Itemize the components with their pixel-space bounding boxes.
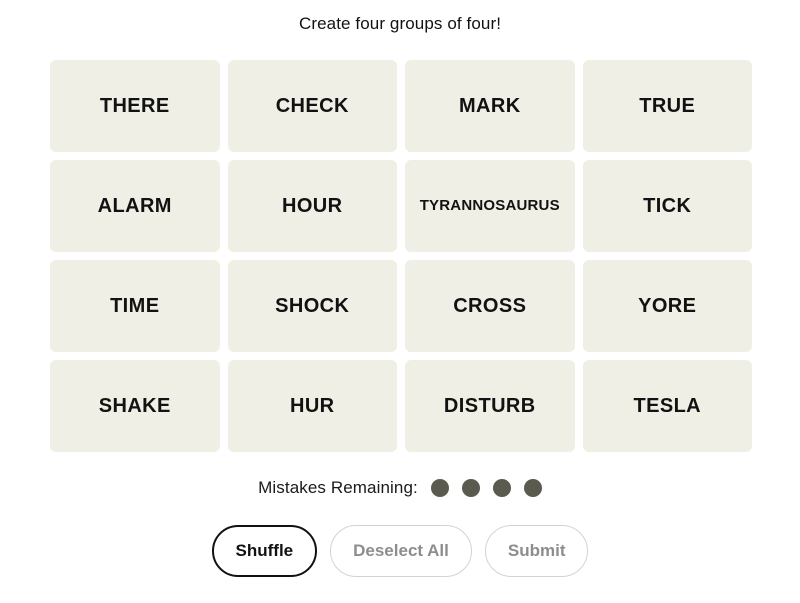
word-tile-label: THERE — [100, 95, 170, 117]
page-title: Create four groups of four! — [0, 13, 800, 35]
mistake-dots — [431, 479, 542, 497]
word-tile-label: SHAKE — [99, 395, 171, 417]
action-button-row: Shuffle Deselect All Submit — [0, 524, 800, 577]
word-tile[interactable]: CROSS — [405, 260, 575, 352]
submit-button[interactable]: Submit — [485, 525, 589, 577]
mistake-dot — [462, 479, 480, 497]
word-tile-label: HUR — [290, 395, 335, 417]
word-tile-label: YORE — [638, 295, 696, 317]
word-tile[interactable]: TRUE — [583, 60, 753, 152]
word-tile[interactable]: TICK — [583, 160, 753, 252]
word-tile-label: TESLA — [633, 395, 701, 417]
word-tile[interactable]: YORE — [583, 260, 753, 352]
word-tile[interactable]: SHAKE — [50, 360, 220, 452]
word-tile-grid: THERECHECKMARKTRUEALARMHOURTYRANNOSAURUS… — [50, 60, 752, 452]
deselect-all-button[interactable]: Deselect All — [330, 525, 472, 577]
word-tile-label: HOUR — [282, 195, 343, 217]
shuffle-button[interactable]: Shuffle — [212, 525, 318, 577]
word-tile-label: MARK — [459, 95, 521, 117]
word-tile-label: CHECK — [276, 95, 349, 117]
word-tile[interactable]: SHOCK — [228, 260, 398, 352]
mistakes-remaining-label: Mistakes Remaining: — [258, 478, 418, 498]
word-tile-label: CROSS — [453, 295, 526, 317]
word-tile[interactable]: CHECK — [228, 60, 398, 152]
word-tile-label: TIME — [110, 295, 159, 317]
mistakes-remaining-row: Mistakes Remaining: — [0, 474, 800, 502]
word-tile[interactable]: TESLA — [583, 360, 753, 452]
word-tile[interactable]: MARK — [405, 60, 575, 152]
word-tile[interactable]: TIME — [50, 260, 220, 352]
word-tile[interactable]: HOUR — [228, 160, 398, 252]
word-tile[interactable]: DISTURB — [405, 360, 575, 452]
mistake-dot — [431, 479, 449, 497]
mistake-dot — [493, 479, 511, 497]
word-tile-label: ALARM — [98, 195, 172, 217]
word-tile[interactable]: THERE — [50, 60, 220, 152]
word-tile-label: TICK — [643, 195, 691, 217]
word-tile-label: DISTURB — [444, 395, 536, 417]
word-tile[interactable]: HUR — [228, 360, 398, 452]
word-tile[interactable]: TYRANNOSAURUS — [405, 160, 575, 252]
word-tile-label: SHOCK — [275, 295, 349, 317]
word-tile-label: TRUE — [639, 95, 695, 117]
word-tile-label: TYRANNOSAURUS — [420, 198, 560, 215]
word-tile[interactable]: ALARM — [50, 160, 220, 252]
mistake-dot — [524, 479, 542, 497]
